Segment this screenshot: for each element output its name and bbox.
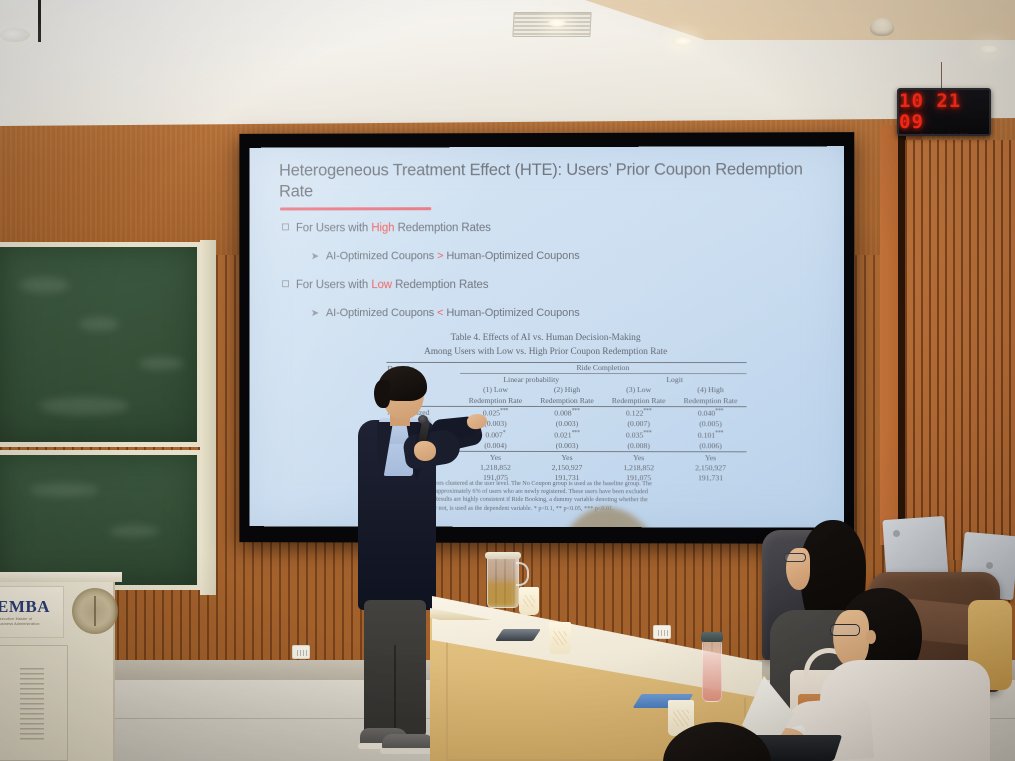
lecture-hall-photo: 年 月 日 星期 10 21 09 温度 湿度 年 月 日 星期 Heterog… xyxy=(0,0,1015,761)
projected-slide: Heterogeneous Treatment Effect (HTE): Us… xyxy=(249,146,844,528)
col-header-1b: Redemption Rate xyxy=(460,395,531,406)
cell: Yes xyxy=(675,452,747,463)
glasses-icon xyxy=(784,553,806,562)
university-seal-icon xyxy=(72,588,118,634)
group-header-logit: Logit xyxy=(603,374,747,385)
cell: 0.035*** xyxy=(603,429,675,441)
emba-sign-title: EMBA xyxy=(0,597,63,617)
bullet-post: Human-Optimized Coupons xyxy=(443,307,579,319)
cell: 2,150,927 xyxy=(675,463,747,474)
square-bullet-icon xyxy=(282,280,289,287)
glasses-icon xyxy=(830,624,860,636)
chalkboard-right-frame xyxy=(200,240,216,595)
col-header-4b: Redemption Rate xyxy=(675,395,747,406)
chalkboard-group xyxy=(0,242,206,594)
audience-man-ear xyxy=(866,630,876,644)
bullet-post: Human-Optimized Coupons xyxy=(443,250,579,262)
cell: 0.021*** xyxy=(531,429,603,441)
table-notes: Notes: Standard errors clustered at the … xyxy=(388,480,758,514)
presenter-mic-hand xyxy=(414,441,436,461)
clock-wire xyxy=(941,62,942,90)
bullet-level1-high: For Users with High Redemption Rates xyxy=(282,222,491,234)
bullet-level2-low: ➤AI-Optimized Coupons < Human-Optimized … xyxy=(311,307,580,319)
downlight-icon xyxy=(978,44,1000,54)
power-outlet-icon[interactable] xyxy=(292,645,310,659)
laptop-logo-icon xyxy=(893,530,900,537)
led-wall-clock: 年 月 日 星期 10 21 09 温度 湿度 年 月 日 星期 xyxy=(897,88,991,136)
cell: 0.040*** xyxy=(675,406,747,419)
table-caption-line1: Table 4. Effects of AI vs. Human Decisio… xyxy=(249,333,844,343)
bullet-post: Redemption Rates xyxy=(392,279,488,291)
power-outlet-icon[interactable] xyxy=(653,625,671,639)
laptop-logo-icon xyxy=(986,562,993,569)
arrow-bullet-icon: ➤ xyxy=(311,251,319,262)
table-caption-line2: Among Users with Low vs. High Prior Coup… xyxy=(249,347,844,357)
cell: 1,218,852 xyxy=(603,463,675,474)
bullet-pre: For Users with xyxy=(296,222,371,234)
pendant-light-icon xyxy=(0,28,30,42)
cell: Yes xyxy=(531,452,603,463)
tablet-device[interactable] xyxy=(495,629,541,641)
cell: (0.005) xyxy=(675,419,747,429)
square-bullet-icon xyxy=(282,223,289,230)
pendant-rod xyxy=(38,0,41,42)
cell: Yes xyxy=(603,452,675,463)
bullet-pre: AI-Optimized Coupons xyxy=(326,307,437,319)
lectern-top xyxy=(0,572,122,582)
downlight-icon xyxy=(546,18,568,28)
cell: (0.008) xyxy=(603,441,675,452)
arrow-bullet-icon: ➤ xyxy=(311,308,319,319)
chalkboard-upper xyxy=(0,242,202,447)
paper-cup[interactable] xyxy=(519,587,539,615)
cell: (0.006) xyxy=(675,441,747,452)
water-bottle-cap[interactable] xyxy=(701,632,723,642)
right-slat-panel xyxy=(905,140,1015,560)
col-header-2a: (2) High xyxy=(531,385,603,395)
cell: (0.003) xyxy=(531,418,603,428)
emba-sign-subtitle-2: Business Administration xyxy=(0,622,63,627)
bullet-level1-low: For Users with Low Redemption Rates xyxy=(282,279,488,291)
water-bottle[interactable] xyxy=(702,640,722,702)
col-header-3b: Redemption Rate xyxy=(603,395,675,406)
presenter-leg-seam xyxy=(394,645,396,735)
clock-top-label: 年 月 日 星期 xyxy=(930,88,958,91)
bullet-post: Redemption Rates xyxy=(394,222,490,234)
cell: Yes xyxy=(460,451,531,462)
clock-time: 10 21 09 xyxy=(899,91,989,133)
bullet-pre: AI-Optimized Coupons xyxy=(326,250,437,262)
presenter-shoe-right-sole xyxy=(380,748,438,754)
col-header-3a: (3) Low xyxy=(603,385,675,395)
cell: (0.003) xyxy=(531,441,603,452)
cell: (0.007) xyxy=(603,419,675,429)
cell: 0.101*** xyxy=(675,429,747,441)
downlight-icon xyxy=(672,36,694,46)
water-pitcher[interactable] xyxy=(487,556,519,608)
lectern-vent xyxy=(20,668,44,740)
bullet-highlight: Low xyxy=(371,279,392,291)
cell: 1,218,852 xyxy=(460,462,531,472)
paper-cup[interactable] xyxy=(549,622,571,654)
cell: 2,150,927 xyxy=(531,462,603,473)
note-line-4: user books a ride or not, is used as the… xyxy=(388,504,758,513)
slide-title: Heterogeneous Treatment Effect (HTE): Us… xyxy=(279,159,819,202)
title-underline-rule xyxy=(280,207,431,210)
table-row: AI-Optimized 0.025*** 0.008*** 0.122*** … xyxy=(386,406,746,419)
col-header-1a: (1) Low xyxy=(460,385,531,395)
smoke-detector-icon xyxy=(870,18,894,36)
bullet-pre: For Users with xyxy=(296,279,371,291)
pitcher-lid[interactable] xyxy=(485,552,521,559)
col-header-2b: Redemption Rate xyxy=(531,395,603,406)
presenter-hair-side xyxy=(374,380,390,408)
col-header-4a: (4) High xyxy=(675,385,747,395)
group-header-lpm: Linear probability xyxy=(460,374,603,385)
span-header: Ride Completion xyxy=(460,362,747,374)
cell: 0.008*** xyxy=(531,406,603,419)
cell: 0.122*** xyxy=(603,406,675,419)
chalkboard-lower xyxy=(0,450,202,590)
emba-sign: EMBA Executive Master of Business Admini… xyxy=(0,586,64,638)
bullet-level2-high: ➤AI-Optimized Coupons > Human-Optimized … xyxy=(311,250,580,262)
clock-bottom-label: 温度 湿度 年 月 日 星期 xyxy=(920,133,969,137)
bullet-highlight: High xyxy=(371,222,394,234)
